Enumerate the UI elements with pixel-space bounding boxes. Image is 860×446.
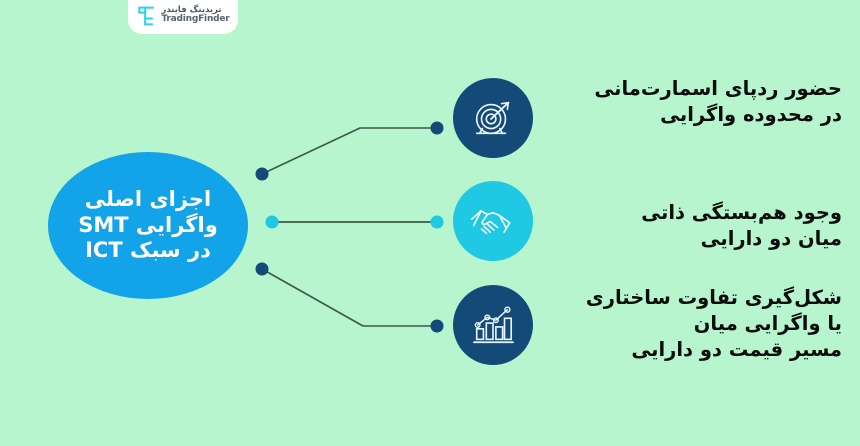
connector-path-3 [262, 269, 437, 326]
item-label-1: حضور ردپای اسمارت‌مانی در محدوده واگرایی [552, 76, 842, 128]
brand-name-en: TradingFinder [161, 15, 229, 24]
connector-dot-1-start [256, 168, 269, 181]
connector-dot-2-start [266, 216, 279, 229]
brand-text: تریدینگ فایندر TradingFinder [161, 6, 229, 24]
infographic-canvas: تریدینگ فایندر TradingFinder اجزای اصلی … [0, 0, 860, 446]
connector-dot-2-end [431, 216, 444, 229]
icon-node-target[interactable] [453, 78, 533, 158]
handshake-icon [469, 200, 517, 242]
icon-node-bar-chart[interactable] [453, 285, 533, 365]
connector-dot-1-end [431, 122, 444, 135]
central-hub: اجزای اصلی واگرایی SMT در سبک ICT [48, 152, 248, 299]
connector-path-1 [262, 128, 437, 174]
item-label-2: وجود هم‌بستگی ذاتی میان دو دارایی [552, 200, 842, 252]
brand-badge: تریدینگ فایندر TradingFinder [128, 0, 238, 34]
connector-dot-3-end [431, 320, 444, 333]
target-arrow-icon [470, 95, 516, 141]
item-label-3: شکل‌گیری تفاوت ساختاری یا واگرایی میان م… [552, 285, 842, 363]
bar-chart-trend-icon [470, 303, 516, 347]
connector-dot-3-start [256, 263, 269, 276]
central-hub-label: اجزای اصلی واگرایی SMT در سبک ICT [72, 187, 224, 264]
tradingfinder-logo-icon [136, 5, 156, 27]
icon-node-handshake[interactable] [453, 181, 533, 261]
